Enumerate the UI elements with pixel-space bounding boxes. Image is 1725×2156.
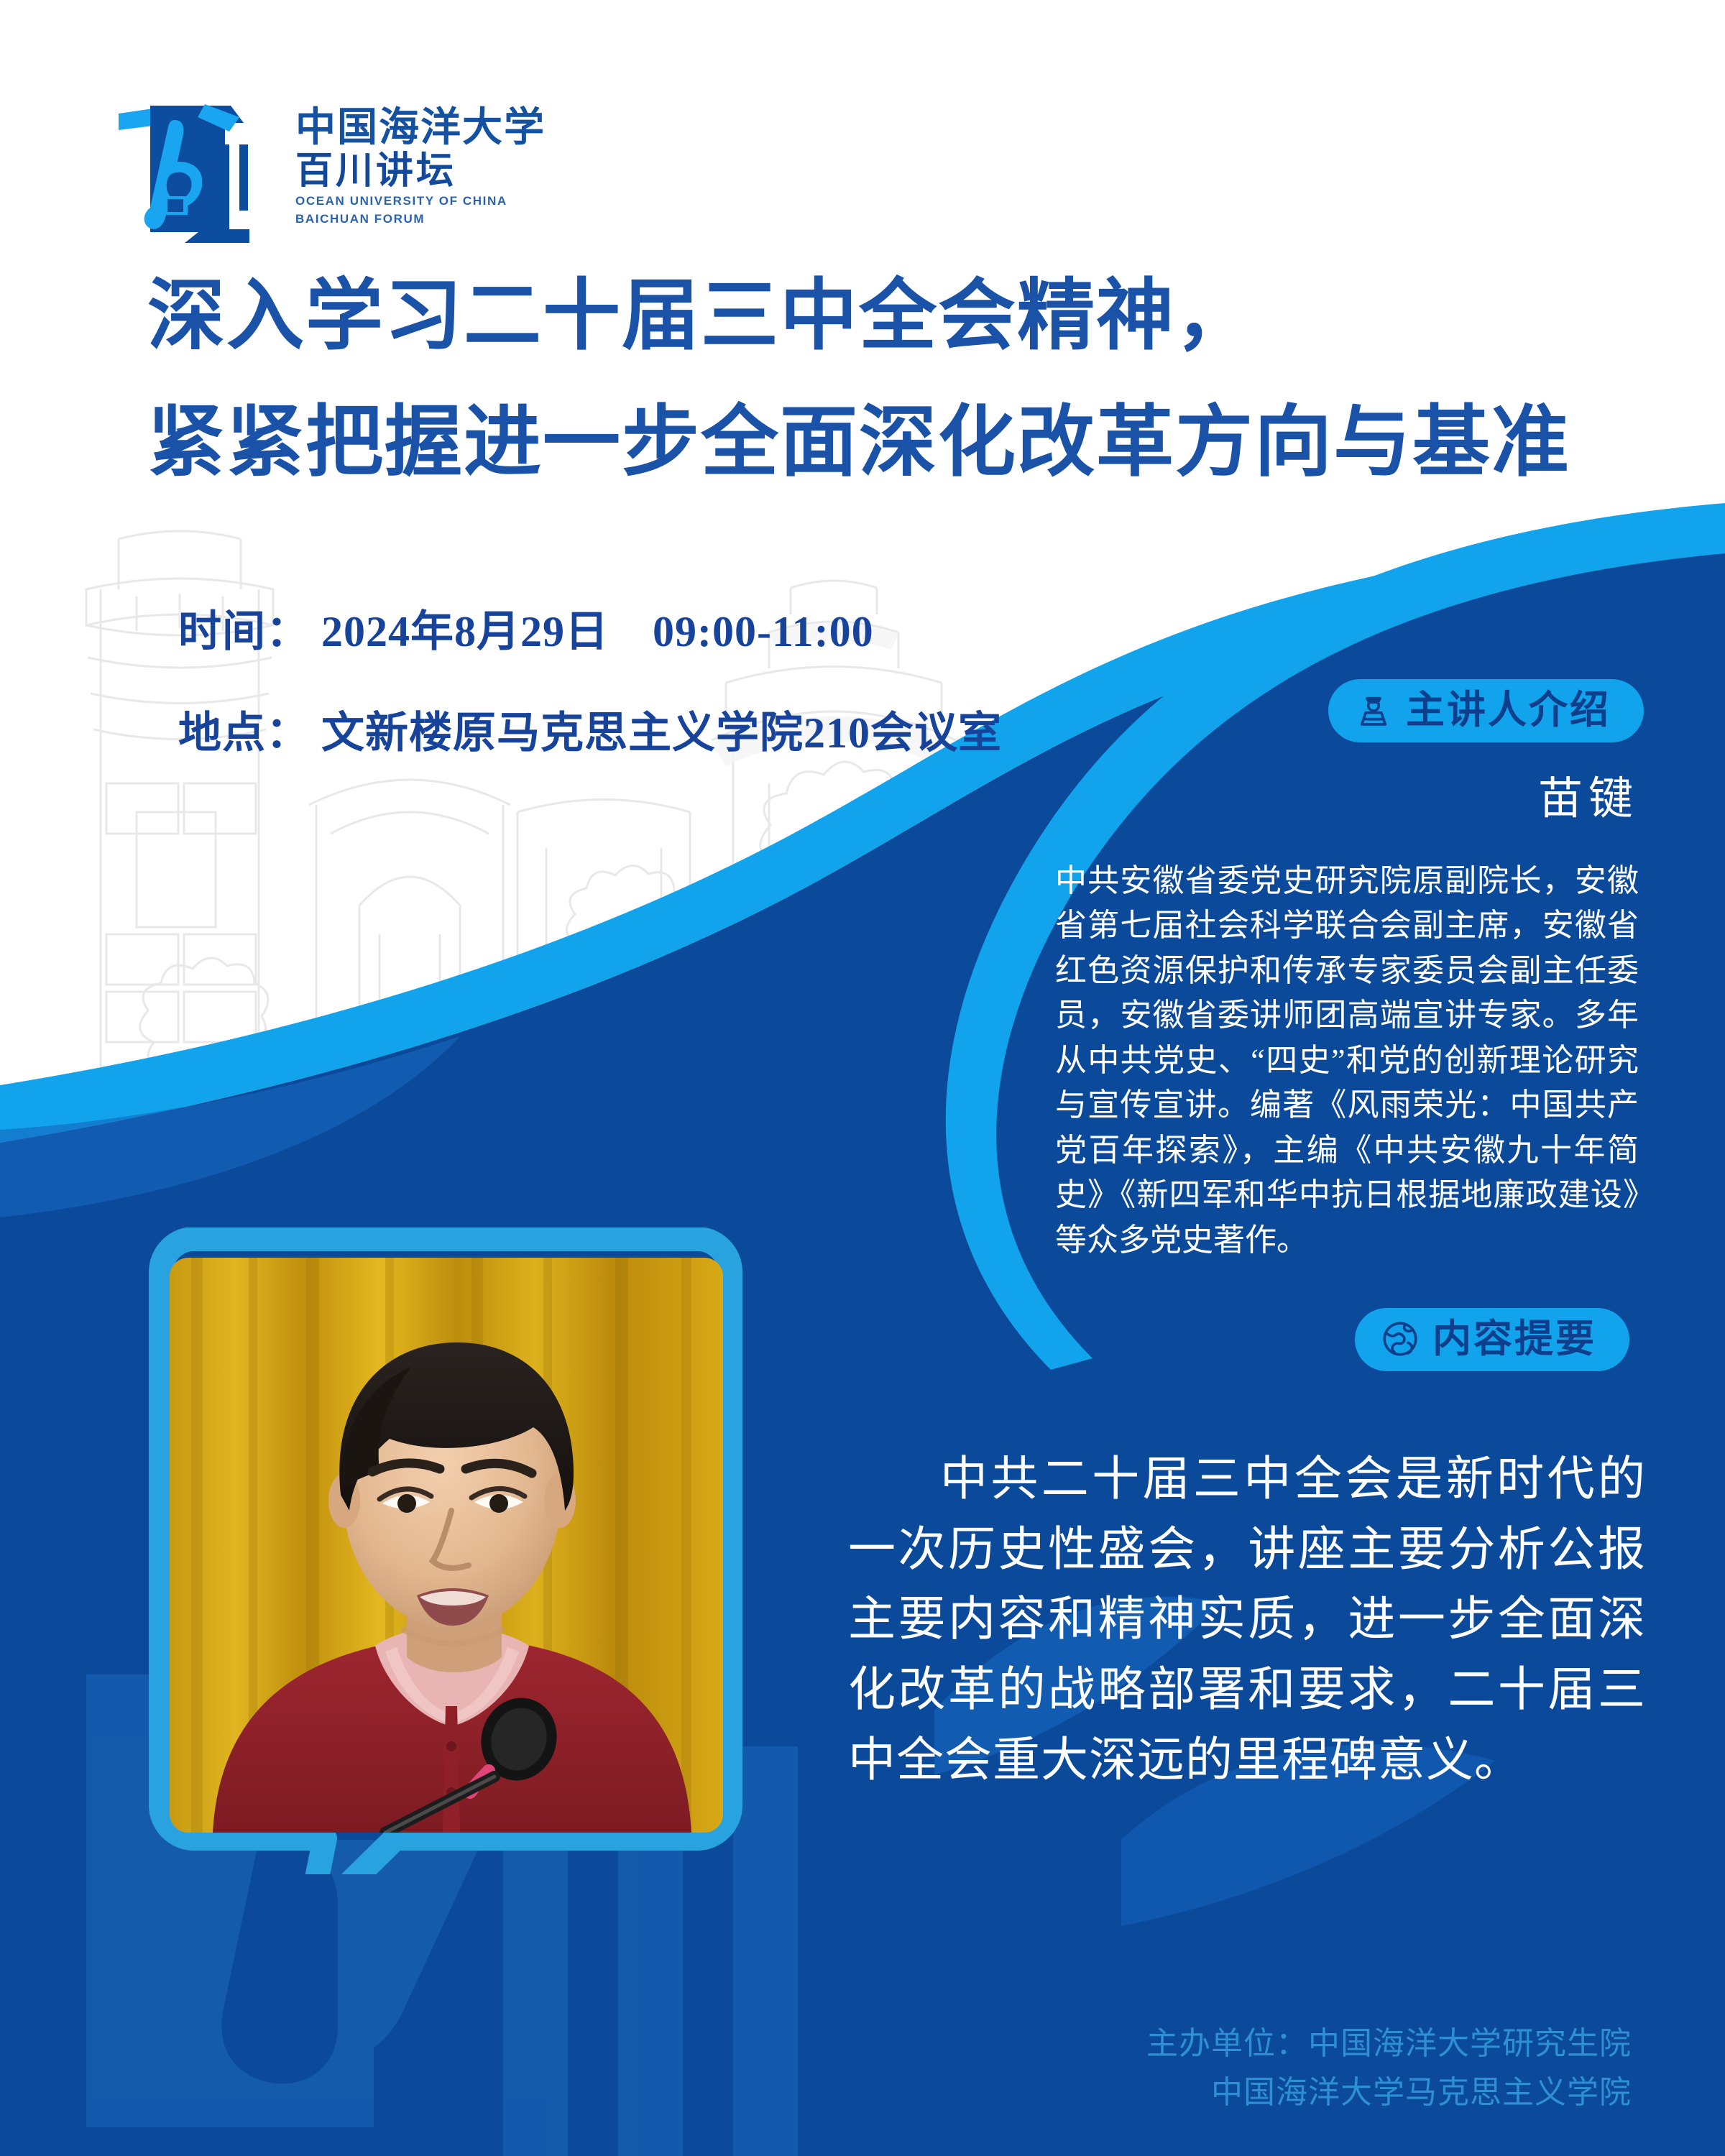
organizer-line-2: 中国海洋大学马克思主义学院 [827,2068,1632,2117]
speaker-name: 苗键 [1006,775,1685,824]
organizer-line-1: 主办单位：中国海洋大学研究生院 [827,2019,1632,2068]
baichuan-forum-logo-icon [97,88,277,243]
content-summary-badge-label: 内容提要 [1432,1319,1596,1358]
event-place: 地点： 文新楼原马克思主义学院210会议室 [178,709,1256,758]
speaker-portrait [170,1258,723,1833]
logo-english-line1: OCEAN UNIVERSITY OF CHINA [295,193,546,210]
event-meta: 时间： 2024年8月29日 09:00-11:00 地点： 文新楼原马克思主义… [178,607,1256,758]
speaker-podium-icon [1353,689,1394,731]
forum-logo: 中国海洋大学 百川讲坛 OCEAN UNIVERSITY OF CHINA BA… [97,86,643,244]
globe-icon [1379,1318,1421,1360]
speaker-photo-bubble [137,1227,769,1874]
logo-chinese-line1: 中国海洋大学 [295,107,546,149]
lecture-poster: 中国海洋大学 百川讲坛 OCEAN UNIVERSITY OF CHINA BA… [0,0,1725,2156]
poster-title: 深入学习二十届三中全会精神， 紧紧把握进一步全面深化改革方向与基准 [147,277,1585,481]
title-line-1: 深入学习二十届三中全会精神， [147,277,1585,354]
event-time: 时间： 2024年8月29日 09:00-11:00 [178,607,1256,657]
speaker-intro-badge: 主讲人介绍 [1328,679,1644,742]
logo-english-line2: BAICHUAN FORUM [295,211,546,228]
content-summary-text: 中共二十届三中全会是新时代的一次历史性盛会，讲座主要分析公报主要内容和精神实质，… [848,1445,1646,1795]
organizer-footer: 主办单位：中国海洋大学研究生院 中国海洋大学马克思主义学院 [827,2019,1675,2117]
title-line-2: 紧紧把握进一步全面深化改革方向与基准 [147,403,1585,481]
speaker-bio: 中共安徽省委党史研究院原副院长，安徽省第七届社会科学联合会副主席，安徽省红色资源… [1055,859,1639,1263]
logo-chinese-line2: 百川讲坛 [295,151,546,192]
speaker-intro-badge-label: 主讲人介绍 [1406,691,1611,729]
content-summary-badge: 内容提要 [1355,1308,1629,1371]
